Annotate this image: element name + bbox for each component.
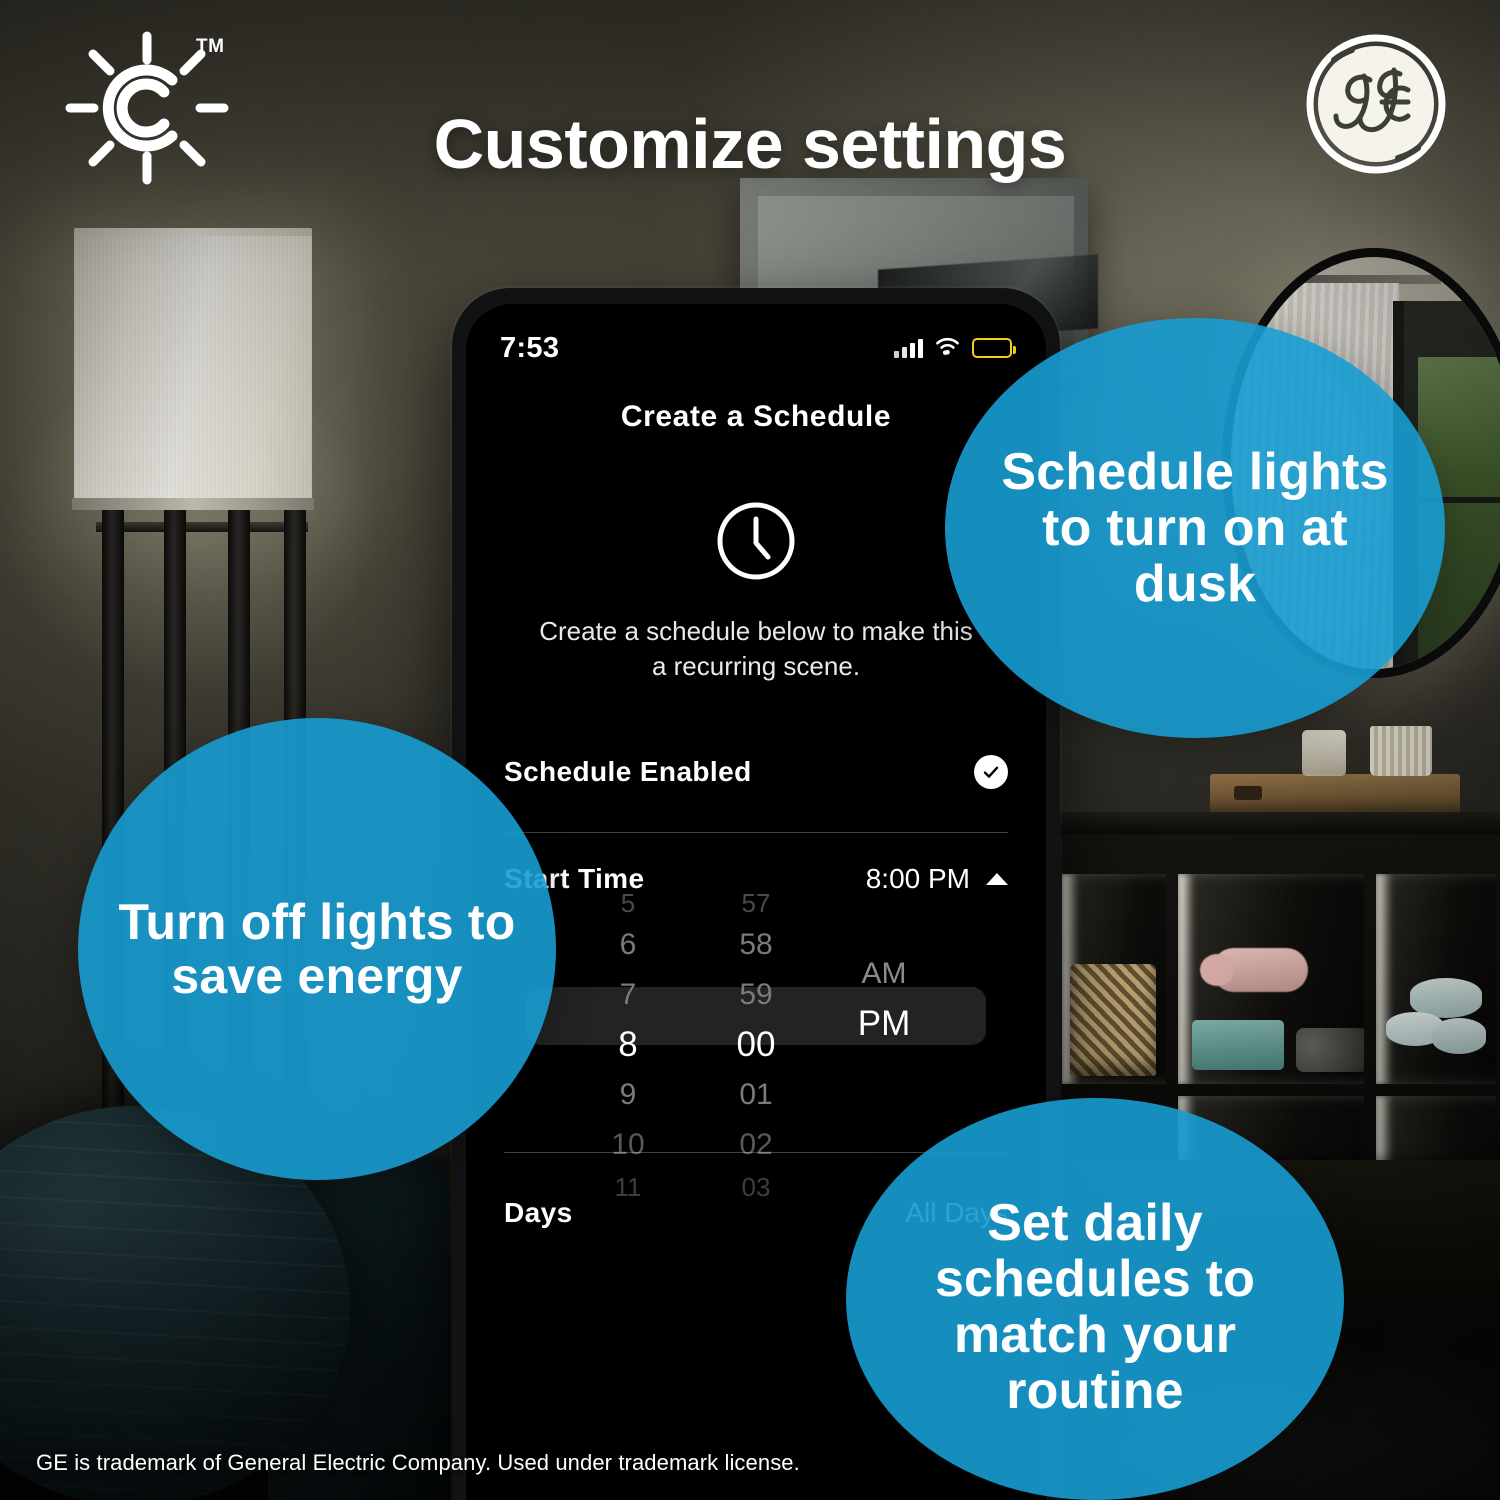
towel xyxy=(1432,1018,1486,1054)
rolled-towels xyxy=(1386,978,1486,1064)
callout-bubble-dusk: Schedule lights to turn on at dusk xyxy=(945,318,1445,738)
wifi-icon xyxy=(934,336,961,361)
divider xyxy=(504,832,1008,833)
time-picker[interactable]: 5 6 7 8 9 10 11 57 58 59 00 01 02 xyxy=(504,884,1008,1150)
status-bar-time: 7:53 xyxy=(500,332,559,365)
minute-option[interactable]: 59 xyxy=(692,970,820,1020)
callout-bubble-energy: Turn off lights to save energy xyxy=(78,718,556,1180)
lamp-shade-lip xyxy=(72,498,314,510)
battery-low-power-icon xyxy=(972,338,1012,358)
shelf-cubby xyxy=(1062,874,1166,1084)
row-schedule-enabled[interactable]: Schedule Enabled xyxy=(466,744,1046,800)
hour-option[interactable]: 9 xyxy=(564,1070,692,1120)
screenshot-canvas: 7:53 Create a xyxy=(0,0,1500,1500)
signal-bars-icon xyxy=(894,339,923,358)
wicker-basket xyxy=(1070,964,1156,1076)
minute-wheel[interactable]: 57 58 59 00 01 02 03 xyxy=(692,884,820,1150)
minute-option-selected[interactable]: 00 xyxy=(692,1020,820,1070)
ribbed-vase xyxy=(1370,726,1432,776)
callout-text-routine: Set daily schedules to match your routin… xyxy=(880,1195,1310,1420)
minute-option[interactable]: 57 xyxy=(692,886,820,920)
hour-option[interactable]: 5 xyxy=(564,886,692,920)
row-label-days: Days xyxy=(504,1197,573,1229)
hour-option[interactable]: 6 xyxy=(564,920,692,970)
hour-option[interactable]: 10 xyxy=(564,1120,692,1170)
callout-text-energy: Turn off lights to save energy xyxy=(112,895,522,1003)
yoga-block xyxy=(1192,1020,1284,1070)
hour-option[interactable]: 7 xyxy=(564,970,692,1020)
trademark-symbol: TM xyxy=(196,36,224,58)
shelf-cubby xyxy=(1376,874,1496,1084)
dumbbells xyxy=(1212,948,1308,992)
callout-bubble-routine: Set daily schedules to match your routin… xyxy=(846,1098,1344,1500)
screen-description: Create a schedule below to make this a r… xyxy=(534,614,978,684)
minute-option[interactable]: 01 xyxy=(692,1070,820,1120)
callout-text-dusk: Schedule lights to turn on at dusk xyxy=(979,444,1411,612)
meridiem-option[interactable]: AM xyxy=(820,949,948,999)
minute-option[interactable]: 58 xyxy=(692,920,820,970)
meridiem-wheel[interactable]: AM PM xyxy=(820,884,948,1150)
screen-title: Create a Schedule xyxy=(466,400,1046,434)
ge-monogram-logo xyxy=(1304,32,1448,176)
lamp-shelf xyxy=(96,522,308,532)
row-label-schedule-enabled: Schedule Enabled xyxy=(504,756,752,788)
status-bar-indicators xyxy=(894,336,1012,361)
status-bar: 7:53 xyxy=(466,328,1046,368)
hand-weights xyxy=(1296,1028,1364,1072)
wooden-tray xyxy=(1210,774,1460,814)
candle-jar xyxy=(1302,730,1346,776)
lamp-shade xyxy=(74,236,312,502)
minute-option[interactable]: 02 xyxy=(692,1120,820,1170)
shelf-top-surface xyxy=(1050,812,1500,834)
checkmark-icon[interactable] xyxy=(974,755,1008,789)
legal-footer: GE is trademark of General Electric Comp… xyxy=(36,1450,800,1476)
meridiem-option-selected[interactable]: PM xyxy=(820,999,948,1049)
hour-option-selected[interactable]: 8 xyxy=(564,1020,692,1070)
shelf-cubby xyxy=(1178,874,1364,1084)
clock-icon xyxy=(715,500,797,582)
hour-wheel[interactable]: 5 6 7 8 9 10 11 xyxy=(564,884,692,1150)
